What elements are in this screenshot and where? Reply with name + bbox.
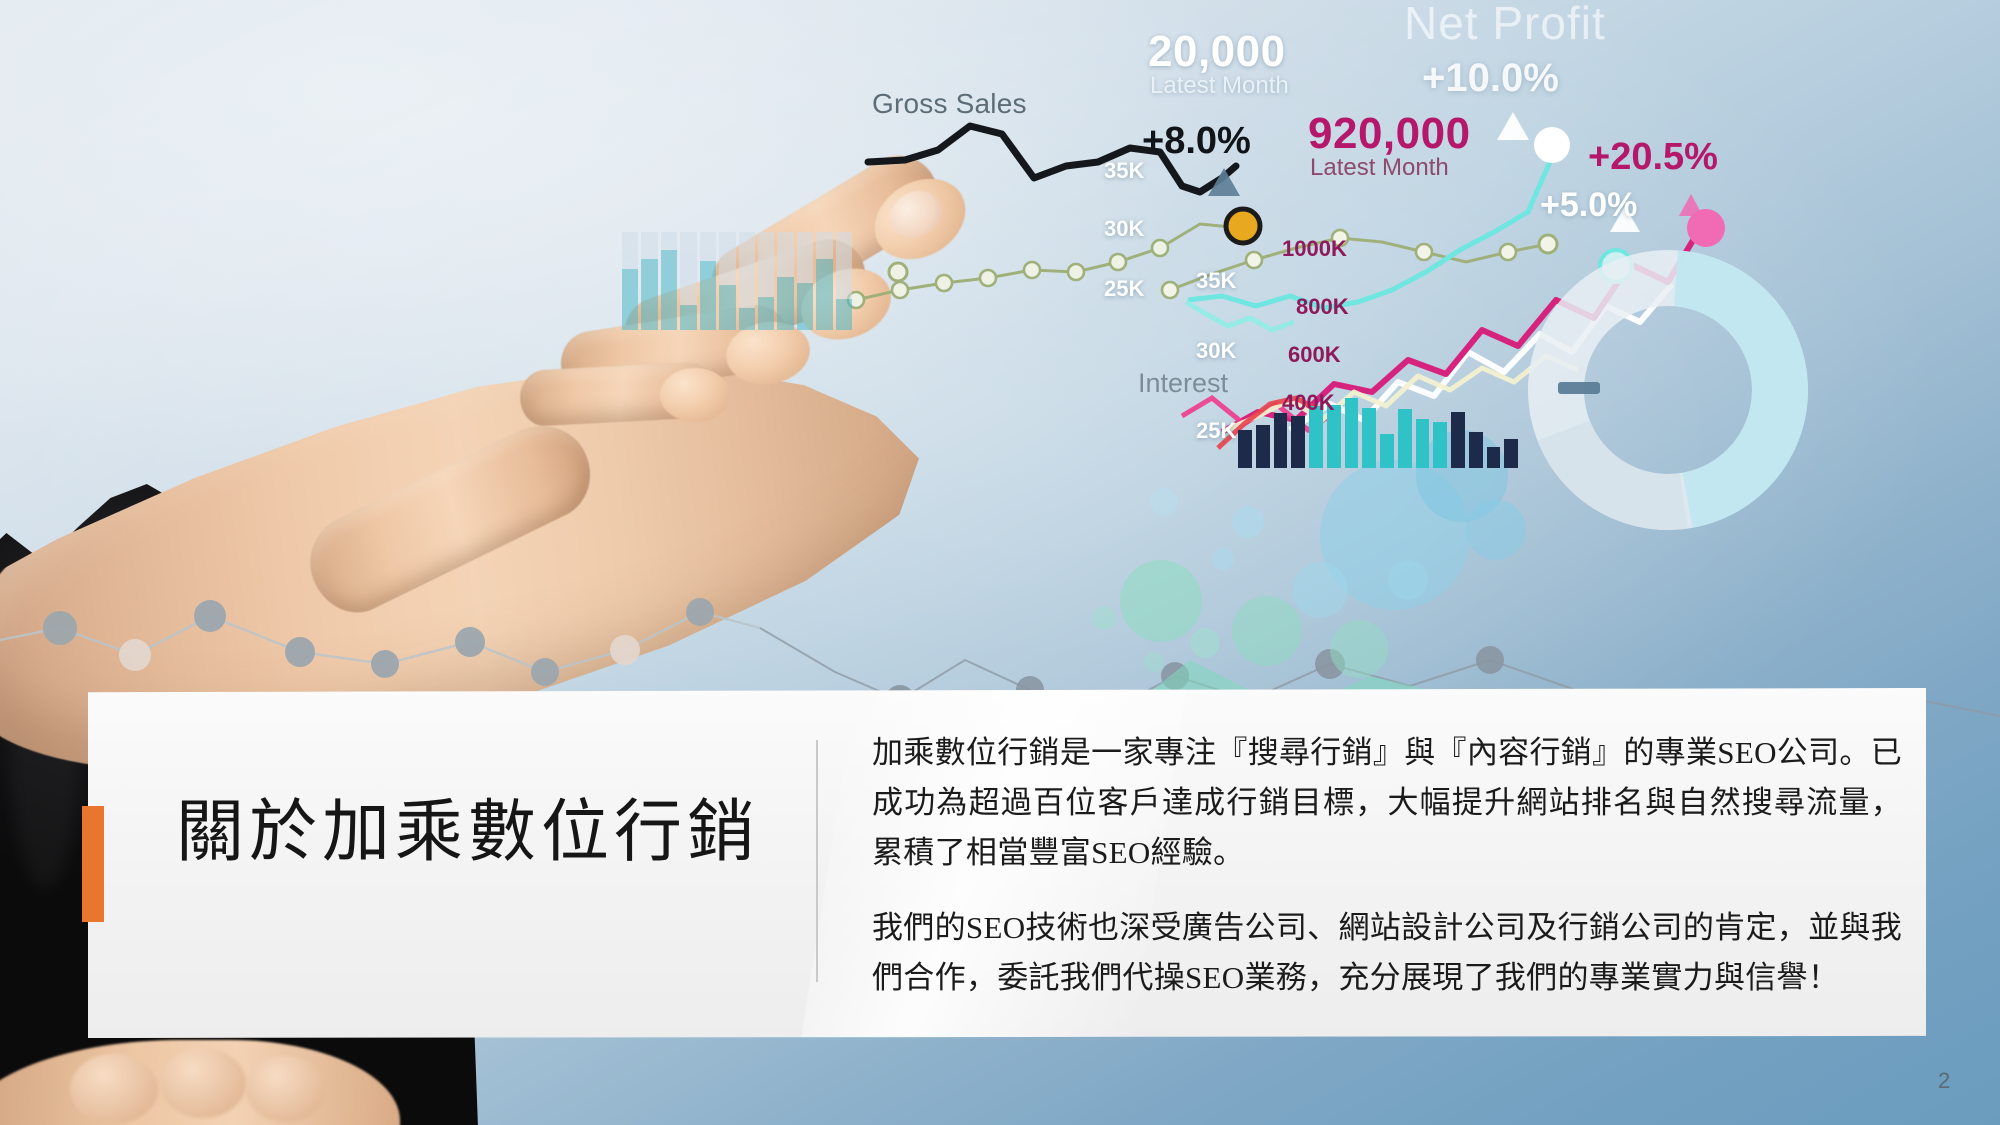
donut-chart bbox=[1556, 278, 1780, 502]
axis-tick-right-1000k: 1000K bbox=[1282, 238, 1347, 260]
axis-tick-left-30k: 30K bbox=[1104, 218, 1144, 240]
secondary-change: +20.5% bbox=[1588, 138, 1718, 176]
bar-chart-right bbox=[1238, 398, 1518, 468]
interest-cyan-line-left bbox=[1186, 302, 1294, 330]
axis-tick-mid-25k: 25K bbox=[1196, 420, 1236, 442]
interest-value-sub: Latest Month bbox=[1310, 156, 1449, 180]
axis-tick-right-800k: 800K bbox=[1296, 296, 1349, 318]
body-paragraph-1: 加乘數位行銷是一家專注『搜尋行銷』與『內容行銷』的專業SEO公司。已成功為超過百… bbox=[872, 728, 1902, 879]
interest-label: Interest bbox=[1138, 370, 1228, 397]
vertical-divider bbox=[816, 740, 818, 982]
bar-chart-left bbox=[622, 232, 852, 330]
net-profit-change: +10.0% bbox=[1422, 58, 1559, 98]
olive-node-bar-link bbox=[889, 263, 907, 281]
gross-sales-value-sub: Latest Month bbox=[1150, 74, 1289, 98]
white-marker-large bbox=[1534, 127, 1570, 163]
gross-sales-label: Gross Sales bbox=[872, 90, 1027, 118]
gold-marker bbox=[1226, 209, 1260, 243]
axis-tick-mid-35k: 35K bbox=[1196, 270, 1236, 292]
olive-node-end bbox=[1539, 235, 1557, 253]
tertiary-change: +5.0% bbox=[1540, 188, 1637, 222]
body-paragraph-2: 我們的SEO技術也深受廣告公司、網站設計公司及行銷公司的肯定，並與我們合作，委託… bbox=[872, 903, 1902, 1003]
axis-tick-right-600k: 600K bbox=[1288, 344, 1341, 366]
triangle-up-pink bbox=[1679, 194, 1703, 216]
axis-tick-mid-30k: 30K bbox=[1196, 340, 1236, 362]
slide-canvas: Gross Sales 20,000 Latest Month +8.0% 92… bbox=[0, 0, 2000, 1125]
triangle-up-white-1 bbox=[1497, 112, 1529, 140]
gross-sales-change: +8.0% bbox=[1142, 122, 1251, 160]
orange-accent-bar bbox=[82, 806, 104, 922]
axis-tick-left-35k: 35K bbox=[1104, 160, 1144, 182]
page-title: 關於加乘數位行銷 bbox=[176, 798, 776, 866]
net-profit-label: Net Profit bbox=[1404, 0, 1606, 46]
axis-tick-right-400k: 400K bbox=[1282, 392, 1335, 414]
gross-sales-value: 20,000 bbox=[1148, 30, 1286, 74]
body-text-column: 加乘數位行銷是一家專注『搜尋行銷』與『內容行銷』的專業SEO公司。已成功為超過百… bbox=[872, 728, 1902, 1003]
donut-tick-marker bbox=[1558, 382, 1600, 394]
axis-tick-left-25k: 25K bbox=[1104, 278, 1144, 300]
interest-value: 920,000 bbox=[1308, 112, 1471, 156]
page-number: 2 bbox=[1938, 1068, 1950, 1094]
olive-trend-line-left bbox=[856, 224, 1242, 300]
